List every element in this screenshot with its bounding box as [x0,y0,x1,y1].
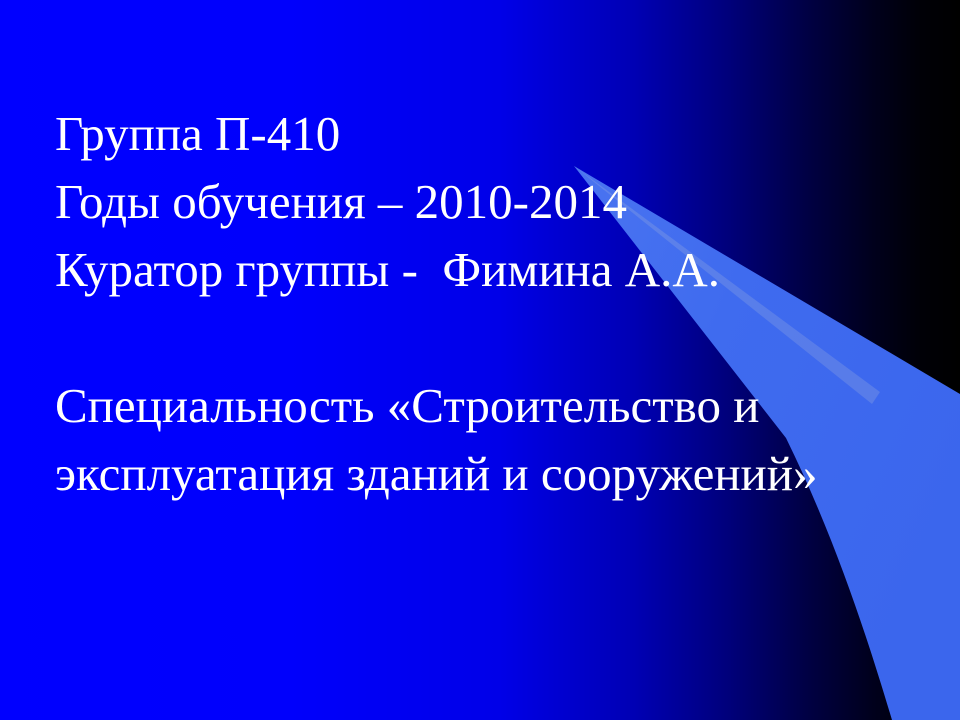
text-line-specialty-second: эксплуатация зданий и сооружений» [55,440,935,508]
slide-text-content: Группа П-410 Годы обучения – 2010-2014 К… [55,100,935,508]
text-line-study-years: Годы обучения – 2010-2014 [55,168,935,236]
text-line-group-name: Группа П-410 [55,100,935,168]
paragraph-group-specialty: Специальность «Строительство и эксплуата… [55,372,935,508]
presentation-slide: Группа П-410 Годы обучения – 2010-2014 К… [0,0,960,720]
text-line-specialty-first: Специальность «Строительство и [55,372,935,440]
paragraph-group-details: Группа П-410 Годы обучения – 2010-2014 К… [55,100,935,304]
text-line-curator: Куратор группы - Фимина А.А. [55,236,935,304]
paragraph-spacer [55,304,935,372]
